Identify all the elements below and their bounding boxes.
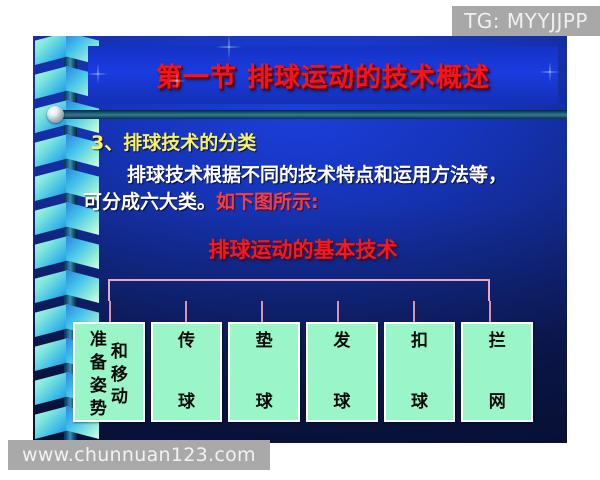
chart-node-blocking: 拦 网	[461, 322, 533, 422]
chart-node-setting: 传 球	[151, 322, 223, 422]
technique-chart: 排球运动的基本技术 准 备 姿 势 和 移	[73, 234, 533, 424]
chart-node-char: 动	[111, 386, 128, 409]
chart-node-char: 移	[111, 364, 128, 387]
body-heading: 3、排球技术的分类	[91, 128, 561, 155]
chart-node-row: 准 备 姿 势 和 移 动 传 球 垫	[73, 322, 533, 422]
body-paragraph-line-2: 可分成六大类。如下图所示:	[83, 187, 561, 214]
chart-connector-drop	[489, 301, 491, 323]
chart-node-serving: 发 球	[306, 322, 378, 422]
chart-node-preparation-movement: 准 备 姿 势 和 移 动	[73, 322, 145, 422]
chart-node-char-bottom: 网	[489, 391, 506, 414]
chart-node-char: 姿	[90, 375, 107, 398]
chart-node-char-top: 垫	[256, 330, 273, 353]
chart-node-char-top: 拦	[489, 330, 506, 353]
chart-node-char-top: 扣	[411, 330, 428, 353]
ribbon-band	[35, 134, 99, 167]
tg-watermark-tag: TG: MYYJJPP	[452, 6, 600, 36]
chart-connector-bus	[108, 279, 490, 301]
chart-node-char-bottom: 球	[256, 391, 273, 414]
chart-title: 排球运动的基本技术	[73, 234, 533, 264]
chart-node-passing: 垫 球	[228, 322, 300, 422]
sparkle-icon	[88, 64, 108, 84]
chart-node-char: 备	[90, 352, 107, 375]
slide-title-banner: 第一节 排球运动的技术概述	[88, 46, 558, 104]
chart-node-char: 势	[90, 398, 107, 421]
chart-node-spiking: 扣 球	[384, 322, 456, 422]
chart-node-char-top: 发	[333, 330, 350, 353]
site-watermark: www.chunnuan123.com	[8, 440, 270, 470]
body-paragraph-line-2-plain: 可分成六大类。	[83, 191, 216, 213]
chart-connector-drop	[185, 301, 187, 323]
header-divider-rule	[55, 110, 567, 119]
slide-title: 第一节 排球运动的技术概述	[156, 57, 490, 94]
chart-node-column-right: 准 备 姿 势	[90, 329, 107, 420]
chart-connector-drop	[109, 301, 111, 323]
sparkle-icon	[540, 62, 560, 82]
slide-body-text: 3、排球技术的分类 排球技术根据不同的技术特点和运用方法等， 可分成六大类。如下…	[91, 128, 561, 214]
chart-node-char-bottom: 球	[333, 391, 350, 414]
body-paragraph-line-1: 排球技术根据不同的技术特点和运用方法等，	[127, 160, 561, 187]
chart-connector-drop	[261, 301, 263, 323]
chart-connector-drop	[413, 301, 415, 323]
chart-node-char-top: 传	[178, 330, 195, 353]
divider-bullet-sphere-icon	[47, 106, 64, 123]
chart-node-column-left: 和 移 动	[111, 341, 128, 409]
body-paragraph-line-2-highlight: 如下图所示:	[216, 191, 319, 213]
chart-node-char-bottom: 球	[411, 391, 428, 414]
chart-node-char: 和	[111, 341, 128, 364]
chart-node-char: 准	[90, 329, 107, 352]
chart-connector-drop	[337, 301, 339, 323]
screenshot-stage: 第一节 排球运动的技术概述 3、排球技术的分类 排球技术根据不同的技术特点和运用…	[0, 0, 600, 480]
presentation-slide: 第一节 排球运动的技术概述 3、排球技术的分类 排球技术根据不同的技术特点和运用…	[33, 36, 567, 443]
chart-node-char-bottom: 球	[178, 391, 195, 414]
